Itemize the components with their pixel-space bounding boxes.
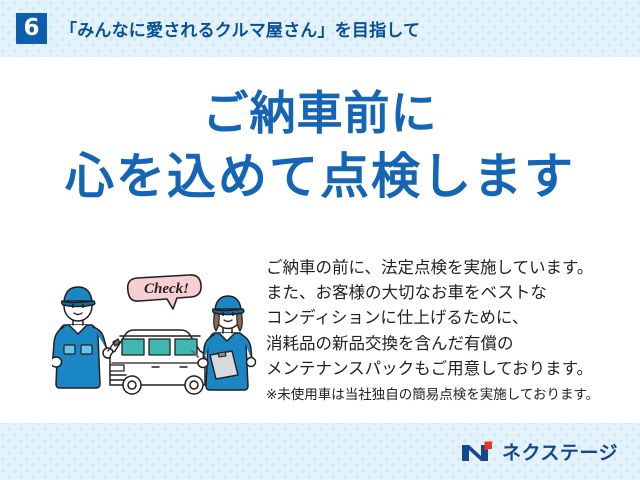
van-illustration: [110, 330, 207, 394]
content-panel: ご納車前に 心を込めて点検します ご納車の前に、法定点検を実施しています。 また…: [0, 57, 640, 423]
brand-logo: ネクステージ: [461, 438, 618, 465]
check-bubble-text: Check!: [144, 281, 189, 297]
body-line: メンテナンスパックもご用意しております。: [266, 357, 626, 382]
headline: ご納車前に 心を込めて点検します: [0, 83, 640, 210]
brand-name: ネクステージ: [502, 438, 618, 465]
body-line: コンディションに仕上げるために、: [266, 306, 626, 331]
step-number-badge: 6: [16, 13, 47, 44]
mechanics-illustration: Check!: [52, 267, 262, 402]
body-note: ※未使用車は当社独自の簡易点検を実施しております。: [266, 386, 626, 405]
body-line: また、お客様の大切なお車をベストな: [266, 281, 626, 306]
body-copy: ご納車の前に、法定点検を実施しています。 また、お客様の大切なお車をベストな コ…: [266, 256, 626, 405]
mechanics-illustration-svg: Check!: [52, 267, 262, 402]
header-title: 「みんなに愛されるクルマ屋さん」を目指して: [60, 16, 420, 41]
headline-line-1: ご納車前に: [0, 83, 640, 145]
nextage-n-logo-icon: [461, 440, 495, 464]
body-line: ご納車の前に、法定点検を実施しています。: [266, 256, 626, 281]
footer-bar: ネクステージ: [0, 423, 640, 480]
header-bar: 6 「みんなに愛されるクルマ屋さん」を目指して: [0, 0, 640, 57]
headline-line-2: 心を込めて点検します: [0, 145, 640, 211]
promo-poster: 6 「みんなに愛されるクルマ屋さん」を目指して ご納車前に 心を込めて点検します…: [0, 0, 640, 480]
check-speech-bubble: Check!: [128, 275, 201, 309]
body-line: 消耗品の新品交換を含んだ有償の: [266, 332, 626, 357]
